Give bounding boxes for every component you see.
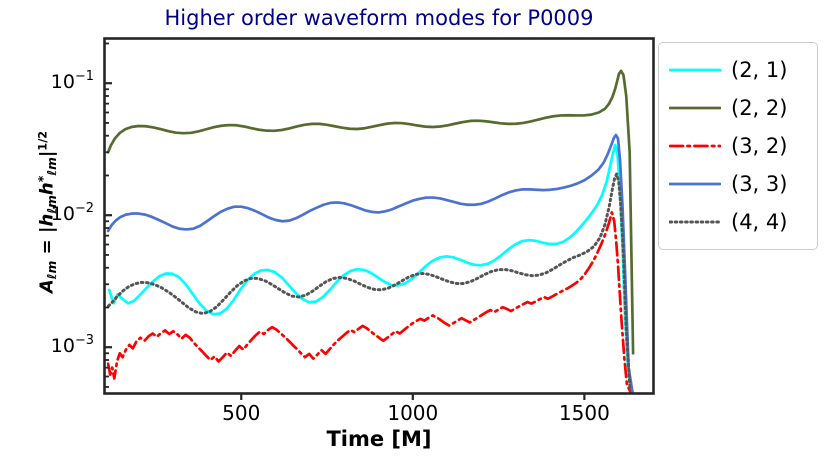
legend-swatch-icon [669,177,721,191]
legend-item-22[interactable]: (2, 2) [665,89,811,127]
series-line-33 [108,135,632,392]
legend-item-32[interactable]: (3, 2) [665,127,811,165]
series-line-32 [108,212,630,391]
x-tick-label: 1000 [368,401,458,425]
legend-label: (3, 2) [731,134,787,158]
y-tick-label: 10−1 [24,69,94,93]
legend-item-21[interactable]: (2, 1) [665,51,811,89]
axes-frame [105,39,654,394]
legend-swatch-icon [669,63,721,77]
x-tick-label: 1500 [539,401,629,425]
tick-marks [104,43,584,400]
y-tick-label: 10−3 [24,333,94,357]
legend-label: (2, 2) [731,96,787,120]
y-tick-label: 10−2 [24,201,94,225]
figure: Higher order waveform modes for P0009 Aℓ… [0,0,830,464]
legend-swatch-icon [669,101,721,115]
legend-item-33[interactable]: (3, 3) [665,165,811,203]
legend-item-44[interactable]: (4, 4) [665,203,811,241]
curves-group [108,71,633,393]
legend-swatch-icon [669,139,721,153]
legend: (2, 1)(2, 2)(3, 2)(3, 3)(4, 4) [658,42,818,250]
legend-swatch-icon [669,215,721,229]
legend-label: (2, 1) [731,58,787,82]
series-line-44 [108,174,630,389]
x-tick-label: 500 [196,401,286,425]
legend-label: (3, 3) [731,172,787,196]
legend-label: (4, 4) [731,210,787,234]
